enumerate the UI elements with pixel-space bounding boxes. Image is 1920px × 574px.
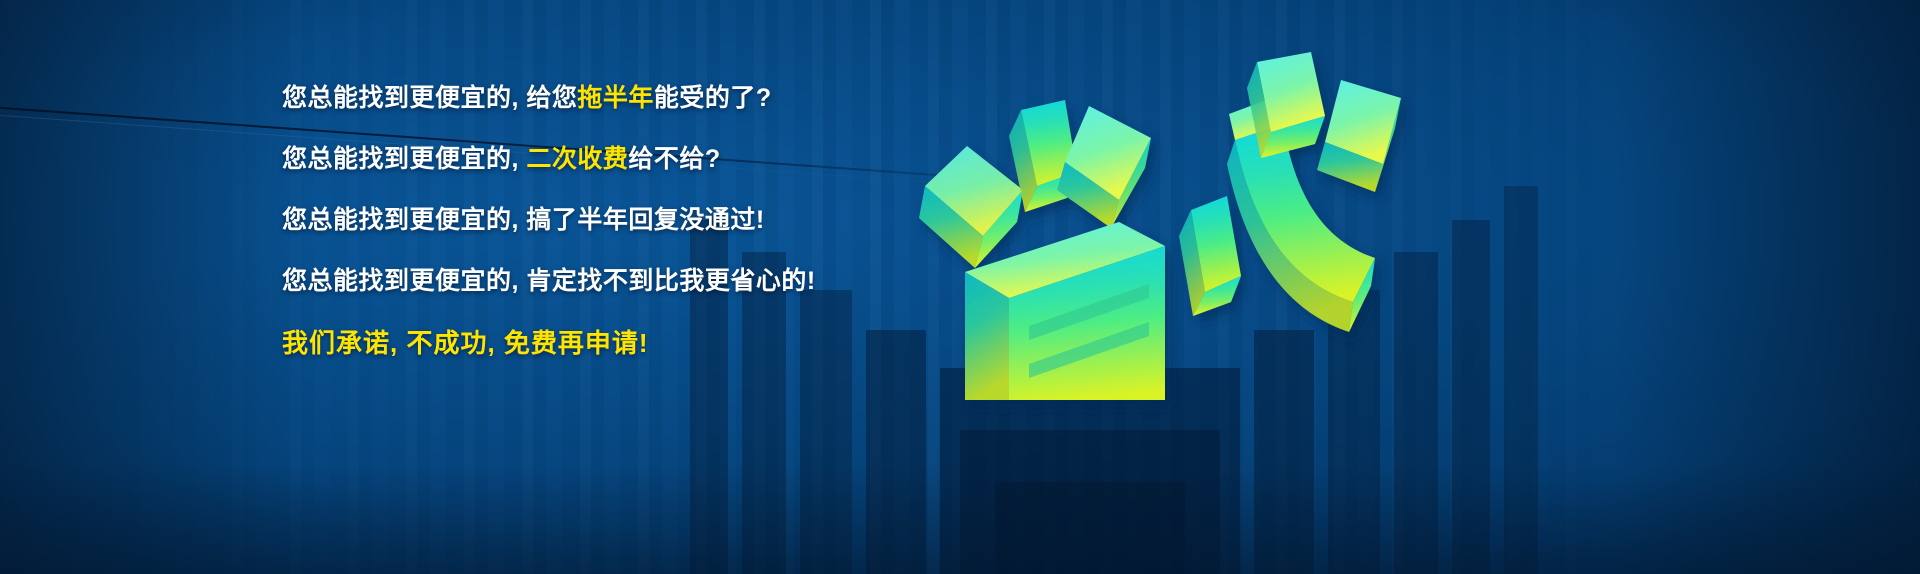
shengxin-glyphs bbox=[919, 52, 1401, 400]
copy-line-4-part-1: 您总能找到更便宜的, 肯定找不到比我更省心的! bbox=[282, 267, 816, 295]
copy-line-1-part-3: 能受的了? bbox=[654, 84, 772, 112]
glyph-xin bbox=[1179, 52, 1401, 332]
shengxin-logo bbox=[905, 40, 1425, 400]
copy-line-2-part-1: 您总能找到更便宜的, bbox=[282, 145, 526, 173]
background-floor-shadow bbox=[0, 464, 1920, 574]
shengxin-logo-svg bbox=[905, 40, 1425, 400]
copy-line-2-highlight: 二次收费 bbox=[526, 145, 628, 173]
glyph-sheng bbox=[919, 100, 1165, 400]
copy-line-1-highlight: 拖半年 bbox=[577, 84, 654, 112]
promo-banner: 您总能找到更便宜的, 给您拖半年能受的了? 您总能找到更便宜的, 二次收费给不给… bbox=[0, 0, 1920, 574]
copy-line-2-part-3: 给不给? bbox=[628, 145, 720, 173]
copy-line-3-part-1: 您总能找到更便宜的, 搞了半年回复没通过! bbox=[282, 206, 765, 234]
copy-line-1-part-1: 您总能找到更便宜的, 给您 bbox=[282, 84, 577, 112]
